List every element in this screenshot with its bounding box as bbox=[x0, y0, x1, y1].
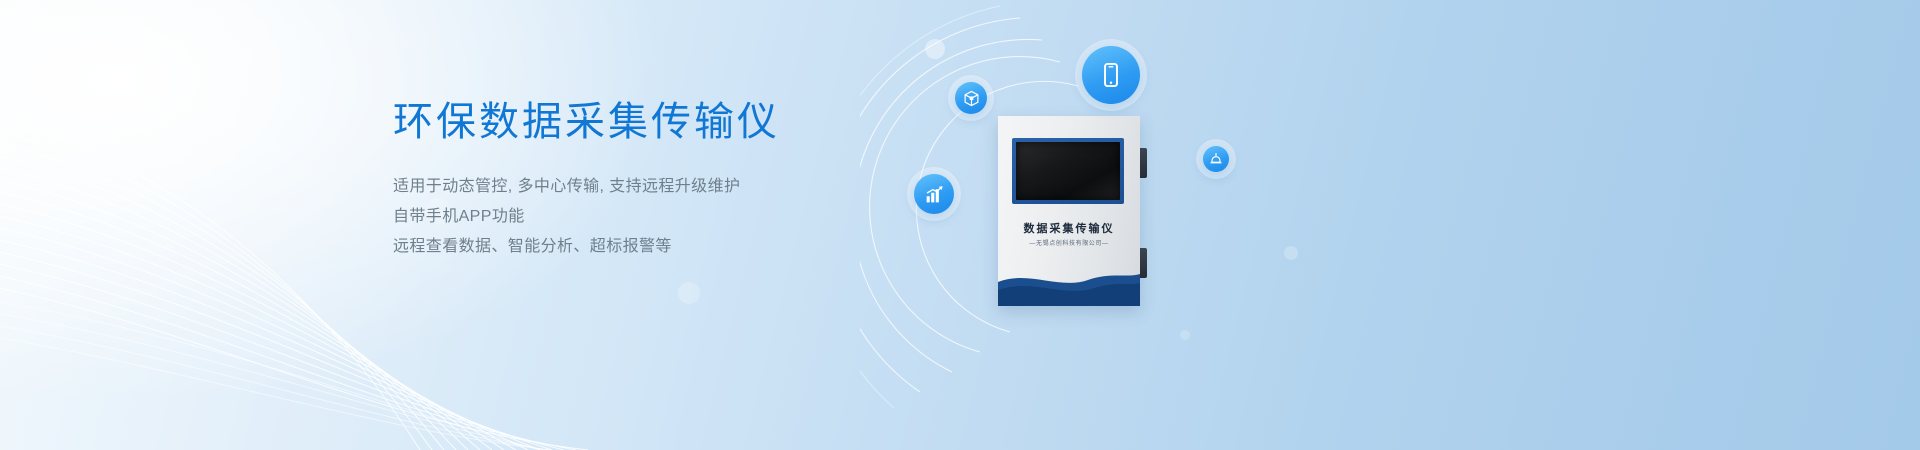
hero-banner: 环保数据采集传输仪 适用于动态管控, 多中心传输, 支持远程升级维护 自带手机A… bbox=[0, 0, 1920, 450]
device-brand-text: 数据采集传输仪 bbox=[998, 220, 1140, 236]
decorative-bubble bbox=[678, 282, 700, 304]
hero-description-line-2: 自带手机APP功能 bbox=[393, 204, 913, 230]
product-illustration: 数据采集传输仪 —无锡点创科技有限公司— bbox=[860, 0, 1320, 450]
alarm-icon bbox=[1209, 152, 1223, 166]
hero-text-block: 环保数据采集传输仪 适用于动态管控, 多中心传输, 支持远程升级维护 自带手机A… bbox=[393, 96, 913, 264]
chart-icon bbox=[924, 184, 945, 205]
phone-icon bbox=[1098, 62, 1124, 88]
hero-description-line-1: 适用于动态管控, 多中心传输, 支持远程升级维护 bbox=[393, 174, 913, 200]
device-screen-bezel bbox=[1012, 138, 1124, 204]
phone-icon-badge[interactable] bbox=[1082, 46, 1140, 104]
data-acquisition-device: 数据采集传输仪 —无锡点创科技有限公司— bbox=[998, 116, 1140, 306]
device-company-text: —无锡点创科技有限公司— bbox=[998, 238, 1140, 247]
hero-description-line-3: 远程查看数据、智能分析、超标报警等 bbox=[393, 234, 913, 260]
device-hinge-bottom bbox=[1140, 248, 1147, 278]
chart-icon-badge[interactable] bbox=[914, 174, 954, 214]
cube-icon bbox=[963, 90, 980, 107]
device-screen bbox=[1016, 142, 1120, 200]
device-footer-wave bbox=[998, 268, 1140, 306]
alarm-icon-badge[interactable] bbox=[1203, 146, 1229, 172]
device-hinge-top bbox=[1140, 148, 1147, 178]
cube-icon-badge[interactable] bbox=[955, 82, 987, 114]
page-title: 环保数据采集传输仪 bbox=[393, 96, 913, 148]
